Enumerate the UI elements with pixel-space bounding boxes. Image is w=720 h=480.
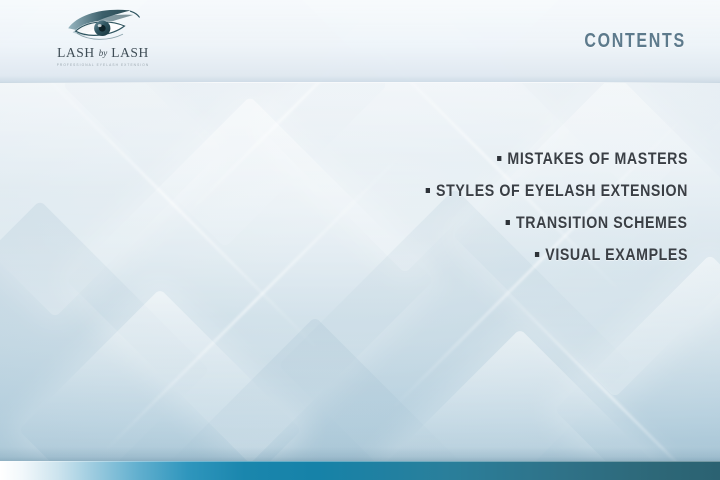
brand-name-connector: by [99,48,108,58]
contents-item-transition-schemes[interactable]: TRANSITION SCHEMES [168,207,688,239]
contents-item-label: VISUAL EXAMPLES [545,246,688,264]
bottom-accent-band [0,461,720,480]
contents-item-styles-of-eyelash-extension[interactable]: STYLES OF EYELASH EXTENSION [168,175,688,207]
square-bullet-icon [497,156,501,161]
brand-name-part1: LASH [57,45,95,60]
contents-slide: LASH by LASH PROFESSIONAL EYELASH EXTENS… [0,0,720,480]
bottom-band-shadow [0,447,720,461]
contents-item-visual-examples[interactable]: VISUAL EXAMPLES [168,239,688,271]
square-bullet-icon [426,188,430,193]
square-bullet-icon [535,252,539,257]
contents-item-label: TRANSITION SCHEMES [516,214,688,232]
eye-with-lashes-icon [62,6,144,46]
contents-list: MISTAKES OF MASTERS STYLES OF EYELASH EX… [168,143,688,271]
contents-item-label: STYLES OF EYELASH EXTENSION [436,182,688,200]
contents-item-label: MISTAKES OF MASTERS [507,150,688,168]
brand-name-part2: LASH [111,45,149,60]
square-bullet-icon [506,220,510,225]
page-title: CONTENTS [585,30,686,53]
brand-name: LASH by LASH [28,45,178,61]
contents-item-mistakes-of-masters[interactable]: MISTAKES OF MASTERS [168,143,688,175]
brand-logo[interactable]: LASH by LASH PROFESSIONAL EYELASH EXTENS… [28,6,178,78]
brand-tagline: PROFESSIONAL EYELASH EXTENSION [28,63,178,67]
